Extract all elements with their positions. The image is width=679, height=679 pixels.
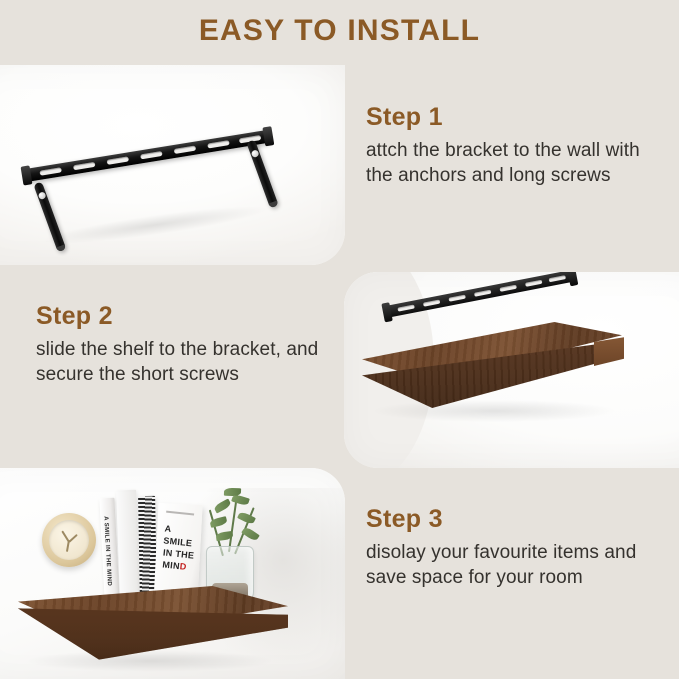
bracket-slot	[423, 299, 441, 307]
step-1-text-block: Step 1 attch the bracket to the wall wit…	[366, 104, 666, 188]
bracket-slot	[174, 146, 197, 154]
bracket-foot-right	[567, 272, 578, 286]
book-cover-line-3: MIND	[162, 559, 195, 574]
bracket-drop-shadow	[40, 199, 271, 251]
step-1-body: attch the bracket to the wall with the a…	[366, 138, 666, 189]
bracket-rail	[25, 130, 270, 182]
bracket-rail-end-left	[21, 165, 33, 185]
desk-clock	[42, 513, 96, 567]
bracket-screw-right	[251, 149, 260, 158]
bracket-rod-right	[246, 139, 278, 208]
wall-bracket-illustration	[0, 65, 345, 265]
bracket-slot	[525, 279, 543, 287]
bracket-slot	[474, 289, 492, 297]
bracket-slot	[73, 162, 96, 170]
bracket-slot	[107, 156, 130, 164]
plant-leaf	[224, 488, 241, 497]
book-spine-title: A SMILE IN THE MIND	[102, 516, 112, 586]
bracket-rail-end-right	[262, 126, 274, 146]
bracket-slot	[397, 304, 415, 312]
bracket-rod-tip-right	[269, 201, 279, 209]
bracket-photo-scene	[0, 65, 345, 265]
step-3-body: disolay your favourite items and save sp…	[366, 540, 671, 591]
step-2-text-block: Step 2 slide the shelf to the bracket, a…	[36, 303, 336, 387]
styled-shelf-photo-scene: A SMILE IN THE MIND A SMILE IN THE MIND	[0, 468, 345, 679]
bracket-slot	[39, 167, 62, 175]
book-cover-line-1: A SMILE	[163, 522, 197, 549]
step-2-label: Step 2	[36, 303, 336, 331]
step-1-image-panel	[0, 65, 345, 265]
walnut-shelf	[18, 586, 288, 666]
product-instruction-graphic: EASY TO INSTALL	[0, 0, 679, 679]
bracket-rod-tip-left	[56, 244, 66, 252]
step-1-label: Step 1	[366, 104, 666, 132]
bracket-slot	[140, 151, 163, 159]
page-title: EASY TO INSTALL	[0, 14, 679, 48]
book-cover-rule	[166, 511, 194, 516]
bracket-screw-left	[38, 191, 47, 200]
bracket-slot	[207, 140, 230, 148]
step-3-text-block: Step 3 disolay your favourite items and …	[366, 506, 671, 590]
walnut-shelf	[362, 322, 622, 408]
step-3-label: Step 3	[366, 506, 671, 534]
clock-hand-second	[66, 540, 70, 552]
bracket-slot	[548, 275, 566, 283]
shelf-bracket-photo-scene	[344, 272, 679, 468]
step-2-image-panel	[344, 272, 679, 468]
bracket-slot	[448, 294, 466, 302]
step-3-image-panel: A SMILE IN THE MIND A SMILE IN THE MIND	[0, 468, 345, 679]
book-spine-2	[116, 490, 140, 599]
book-cover-text: A SMILE IN THE MIND	[162, 523, 196, 573]
step-2-body: slide the shelf to the bracket, and secu…	[36, 337, 336, 388]
bracket-slot	[499, 284, 517, 292]
